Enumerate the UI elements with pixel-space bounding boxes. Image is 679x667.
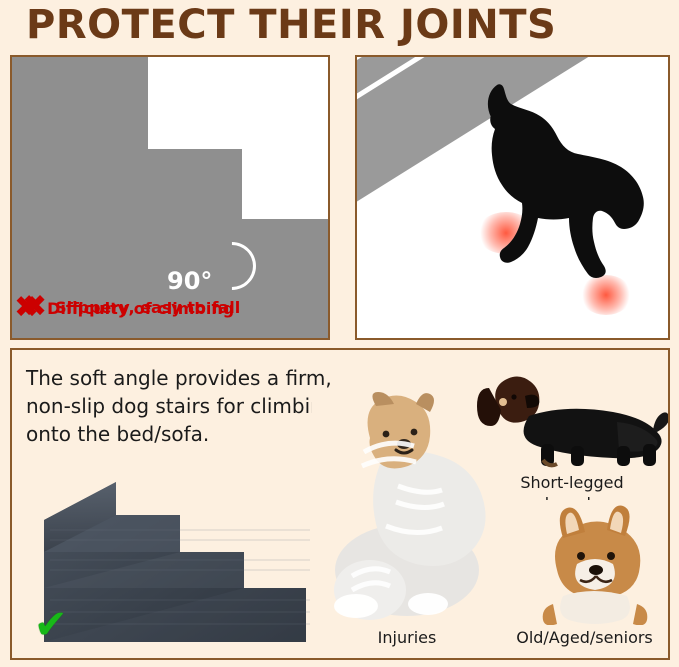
stair-step-middle — [12, 149, 242, 224]
corgi-photo — [517, 500, 670, 625]
slippery-panel — [355, 55, 670, 340]
check-icon: ✔ — [34, 605, 68, 645]
infographic-page: PROTECT THEIR JOINTS 90° ✖ Difficulty of… — [0, 0, 679, 667]
stair-step-top — [12, 57, 148, 153]
dog-silhouette-icon — [417, 75, 667, 305]
angle-label: 90° — [167, 267, 212, 295]
caption-text: Slippery, easy to fall — [55, 298, 240, 317]
label-short-legged-line1: Short-legged — [492, 472, 652, 493]
product-description-text: The soft angle provides a firm, non-slip… — [26, 364, 356, 448]
label-old-aged-seniors: Old/Aged/seniors — [492, 627, 670, 648]
caption-slippery: ✖ Slippery, easy to fall — [22, 292, 240, 322]
label-injuries: Injuries — [337, 627, 477, 648]
page-title: PROTECT THEIR JOINTS — [26, 2, 666, 48]
dachshund-photo — [467, 360, 670, 470]
cross-icon: ✖ — [22, 292, 47, 322]
product-benefit-panel: The soft angle provides a firm, non-slip… — [10, 348, 670, 660]
